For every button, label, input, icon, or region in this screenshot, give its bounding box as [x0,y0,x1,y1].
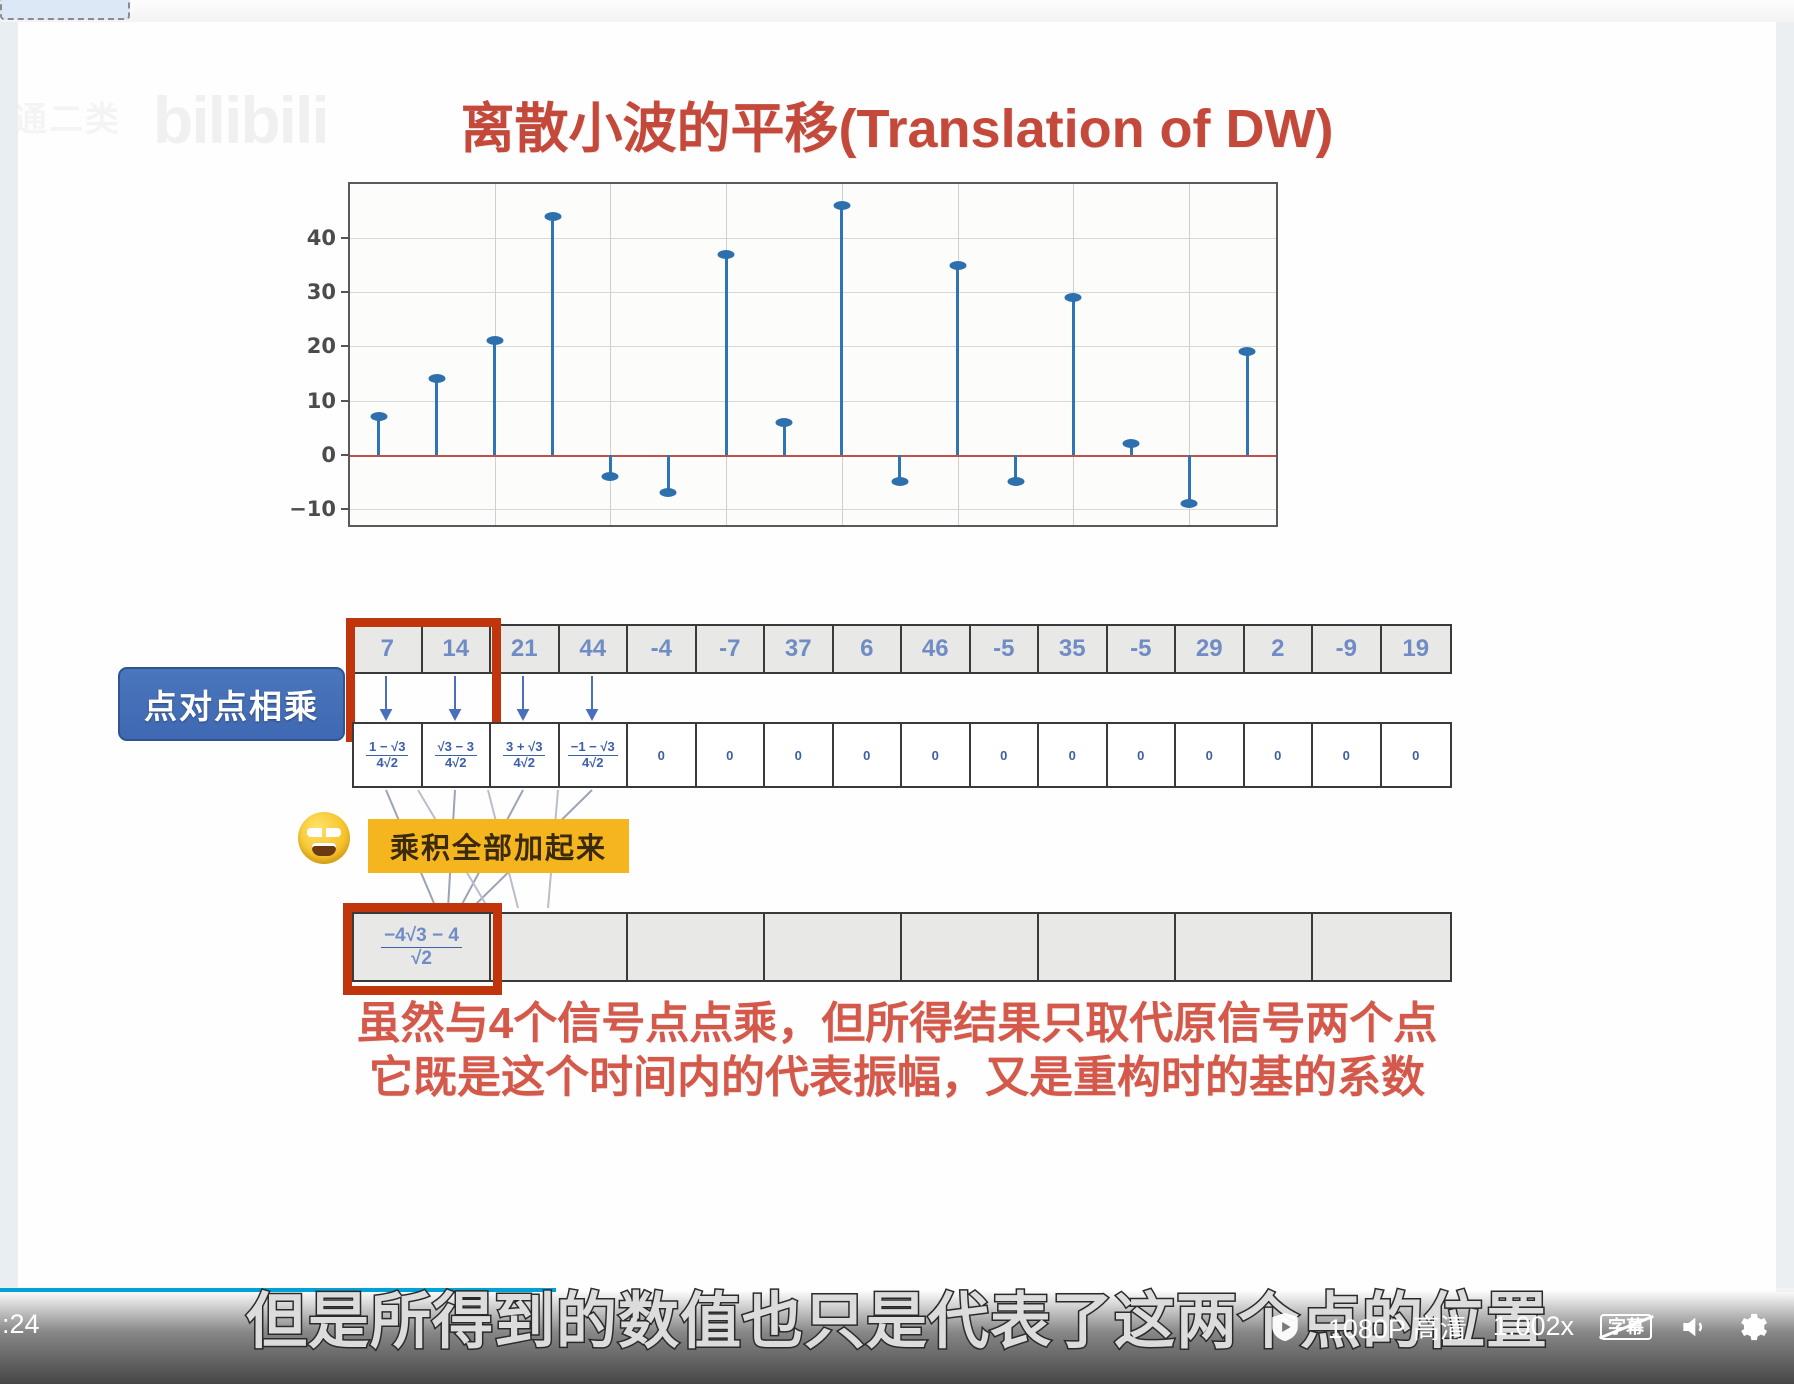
cell-value: 0 [1412,748,1419,763]
stem-line [956,265,959,454]
fraction-value: 1 − √34√2 [366,740,408,771]
stem-line [1246,352,1249,455]
stem-marker [602,472,619,481]
cell-value: 0 [1137,748,1144,763]
filter-cell: 0 [1245,724,1314,786]
y-axis-tick-label: 30 [307,280,336,304]
stem-line [551,216,554,454]
y-axis-tick-label: 10 [307,389,336,413]
fraction-numerator: √3 − 3 [435,740,477,756]
stem-line [667,455,670,493]
signal-cell: 44 [560,626,629,672]
filter-cell: −1 − √34√2 [560,724,629,786]
filter-cell: 0 [1039,724,1108,786]
output-cell [1039,914,1176,980]
signal-cell: 35 [1039,626,1108,672]
stem-marker [1065,293,1082,302]
cell-value: 0 [1069,748,1076,763]
fraction-denominator: 4√2 [435,756,477,771]
filter-cell: 0 [1382,724,1451,786]
y-gridline [350,509,1276,510]
signal-cell: 37 [765,626,834,672]
cell-value: 0 [1206,748,1213,763]
player-left-rail [0,22,18,1292]
zero-baseline [350,455,1276,457]
output-cell [628,914,765,980]
signal-cell: 2 [1245,626,1314,672]
stem-marker [776,418,793,427]
browser-tab-fragment[interactable] [0,0,130,20]
sum-products-badge: 乘积全部加起来 [368,819,629,873]
speed-label[interactable]: 1.002x [1493,1311,1574,1342]
signal-cell: 6 [834,626,903,672]
y-gridline [350,238,1276,239]
filter-cell: 1 − √34√2 [354,724,423,786]
filter-coefficients-table: 1 − √34√2√3 − 34√23 + √34√2−1 − √34√2000… [352,722,1452,788]
stem-marker [428,374,445,383]
signal-cell: 21 [491,626,560,672]
signal-values-table: 7142144-4-737646-535-5292-919 [352,624,1452,674]
player-right-rail [1776,22,1794,1292]
signal-cell: -9 [1313,626,1382,672]
stem-marker [1239,347,1256,356]
cell-value: 0 [658,748,665,763]
filter-cell: 0 [628,724,697,786]
signal-cell: 46 [902,626,971,672]
stem-line [377,417,380,455]
y-axis-tick-label: 20 [307,334,336,358]
timecode-label: :24 [2,1309,40,1340]
output-cell [1313,914,1450,980]
signal-cell: -4 [628,626,697,672]
caption-line-2: 它既是这个时间内的代表振幅，又是重构时的基的系数 [18,1051,1776,1105]
signal-cell: -5 [1108,626,1177,672]
video-stage[interactable]: 通二类 bilibili 离散小波的平移(Translation of DW) … [18,22,1776,1292]
stem-line [435,379,438,455]
cell-value: 0 [1343,748,1350,763]
browser-chrome-strip [0,0,1794,22]
slide-title: 离散小波的平移(Translation of DW) [18,84,1776,163]
y-gridline [350,292,1276,293]
slide-red-caption: 虽然与4个信号点点乘，但所得结果只取代原信号两个点 它既是这个时间内的代表振幅，… [18,997,1776,1104]
cell-value: 0 [1274,748,1281,763]
output-cell [491,914,628,980]
stem-marker [718,250,735,259]
signal-cell: -5 [971,626,1040,672]
fraction-numerator: −1 − √3 [568,740,618,756]
output-cell [1176,914,1313,980]
filter-cell: 3 + √34√2 [491,724,560,786]
stem-marker [370,412,387,421]
stem-line [1072,298,1075,455]
play-shield-icon[interactable] [1268,1310,1302,1344]
output-highlight-box [343,903,502,995]
cell-value: 0 [795,748,802,763]
cell-value: 0 [932,748,939,763]
stem-chart: 403020100−10 [348,182,1278,527]
output-cell [765,914,902,980]
cell-value: 0 [1000,748,1007,763]
filter-cell: 0 [1108,724,1177,786]
stem-marker [949,261,966,270]
fraction-numerator: 1 − √3 [366,740,408,756]
cell-value: 0 [863,748,870,763]
stem-marker [486,336,503,345]
fraction-value: 3 + √34√2 [503,740,545,771]
signal-cell: 29 [1176,626,1245,672]
y-axis-tick-label: 40 [307,226,336,250]
filter-cell: 0 [697,724,766,786]
filter-cell: 0 [1176,724,1245,786]
gear-icon[interactable] [1736,1310,1770,1344]
subtitle-off-icon[interactable]: 字幕 [1600,1314,1652,1340]
output-cell [902,914,1039,980]
y-axis-tick-label: −10 [289,497,336,521]
output-coefficients-table: −4√3 − 4√2 [352,912,1452,982]
cell-value: 0 [726,748,733,763]
fraction-value: √3 − 34√2 [435,740,477,771]
stem-marker [1181,499,1198,508]
fraction-denominator: 4√2 [568,756,618,771]
y-gridline [350,401,1276,402]
stem-line [725,254,728,454]
fraction-value: −1 − √34√2 [568,740,618,771]
filter-cell: 0 [971,724,1040,786]
stem-line [783,422,786,454]
pointwise-multiply-badge: 点对点相乘 [118,667,345,741]
stem-marker [660,488,677,497]
filter-cell: 0 [834,724,903,786]
fraction-numerator: 3 + √3 [503,740,545,756]
stem-line [1188,455,1191,504]
filter-cell: √3 − 34√2 [423,724,492,786]
fraction-denominator: 4√2 [366,756,408,771]
fraction-denominator: 4√2 [503,756,545,771]
app-root: 通二类 bilibili 离散小波的平移(Translation of DW) … [0,0,1794,1384]
volume-icon[interactable] [1678,1311,1710,1343]
stem-marker [891,477,908,486]
stem-marker [833,201,850,210]
quality-label[interactable]: 1080P 高清 [1328,1307,1467,1346]
caption-line-1: 虽然与4个信号点点乘，但所得结果只取代原信号两个点 [18,997,1776,1051]
stem-marker [544,212,561,221]
filter-cell: 0 [1313,724,1382,786]
filter-cell: 0 [765,724,834,786]
filter-cell: 0 [902,724,971,786]
y-gridline [350,346,1276,347]
y-axis-tick-label: 0 [321,443,336,467]
player-right-controls[interactable]: 1080P 高清 1.002x 字幕 [1268,1307,1770,1346]
grinning-squint-emoji [298,812,350,864]
stem-line [840,206,843,455]
stem-marker [1007,477,1024,486]
stem-line [493,341,496,455]
stem-marker [1123,439,1140,448]
video-player-controls[interactable]: 但是所得到的数值也只是代表了这两个点的位置 :24 1080P 高清 1.002… [0,1290,1794,1384]
signal-cell: -7 [697,626,766,672]
signal-cell: 19 [1382,626,1451,672]
